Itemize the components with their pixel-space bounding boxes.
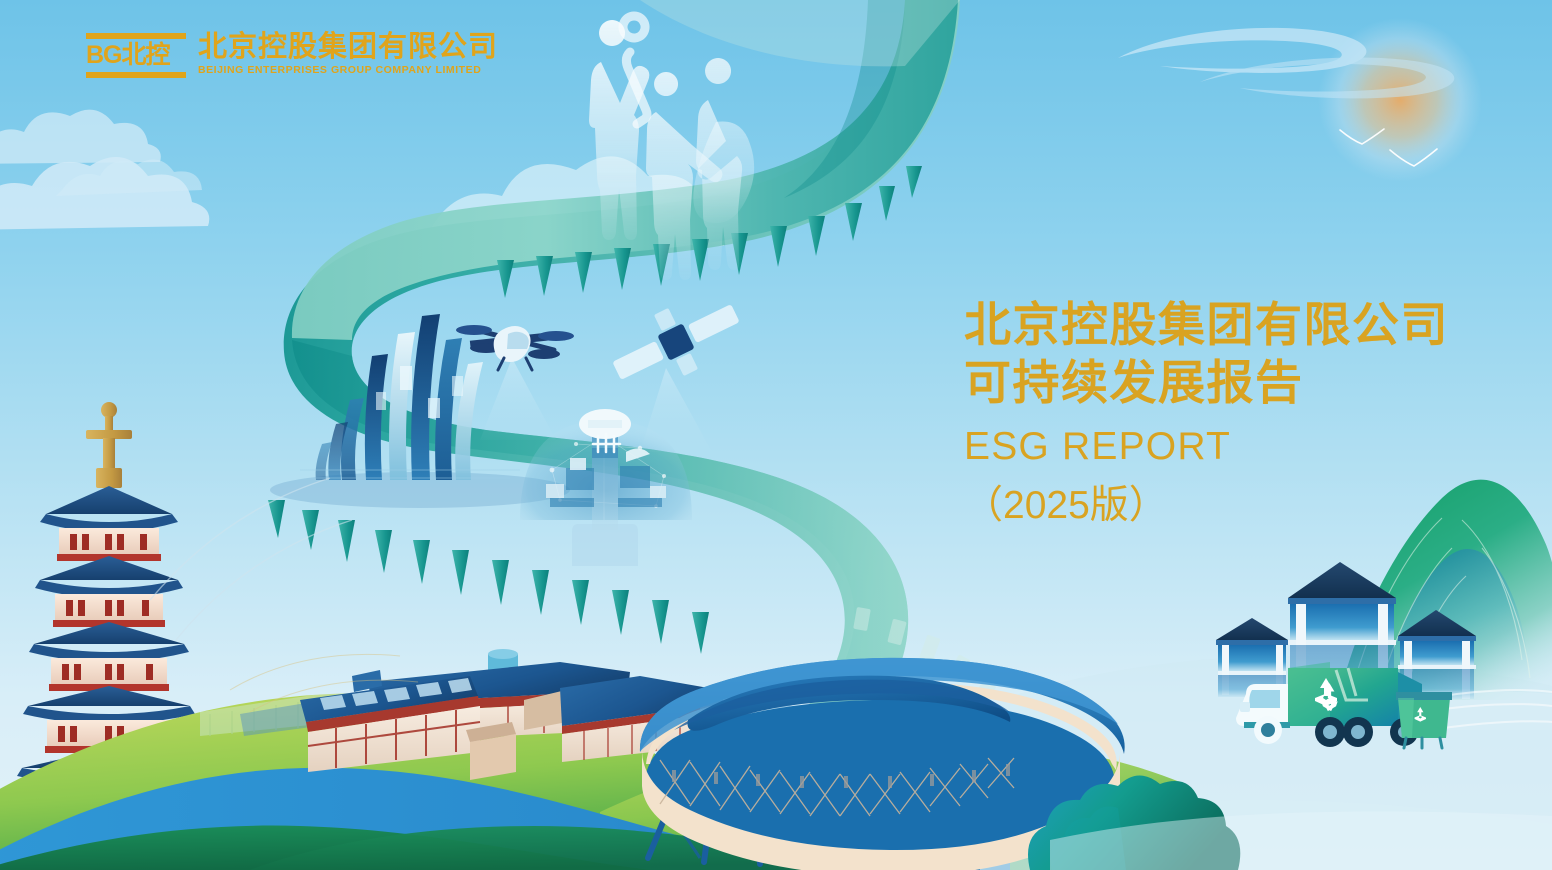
- logo-bar-top: [86, 33, 186, 39]
- report-edition: （2025版）: [964, 480, 1449, 533]
- report-title-line1: 北京控股集团有限公司: [964, 296, 1449, 354]
- report-title-block: 北京控股集团有限公司 可持续发展报告 ESG REPORT （2025版）: [964, 296, 1449, 533]
- company-logo: BG北控 北京控股集团有限公司 BEIJING ENTERPRISES GROU…: [86, 31, 498, 78]
- logo-mark-text: BG北控: [86, 43, 186, 68]
- logo-mark: BG北控: [86, 31, 186, 78]
- esg-report-cover: BG北控 北京控股集团有限公司 BEIJING ENTERPRISES GROU…: [0, 0, 1552, 870]
- logo-company-en: BEIJING ENTERPRISES GROUP COMPANY LIMITE…: [198, 65, 498, 77]
- logo-wordmark: 北京控股集团有限公司 BEIJING ENTERPRISES GROUP COM…: [198, 31, 498, 77]
- report-title-line2: 可持续发展报告: [964, 354, 1449, 412]
- logo-company-cn: 北京控股集团有限公司: [198, 32, 498, 63]
- report-title-english: ESG REPORT: [964, 418, 1449, 477]
- logo-bar-bottom: [86, 72, 186, 78]
